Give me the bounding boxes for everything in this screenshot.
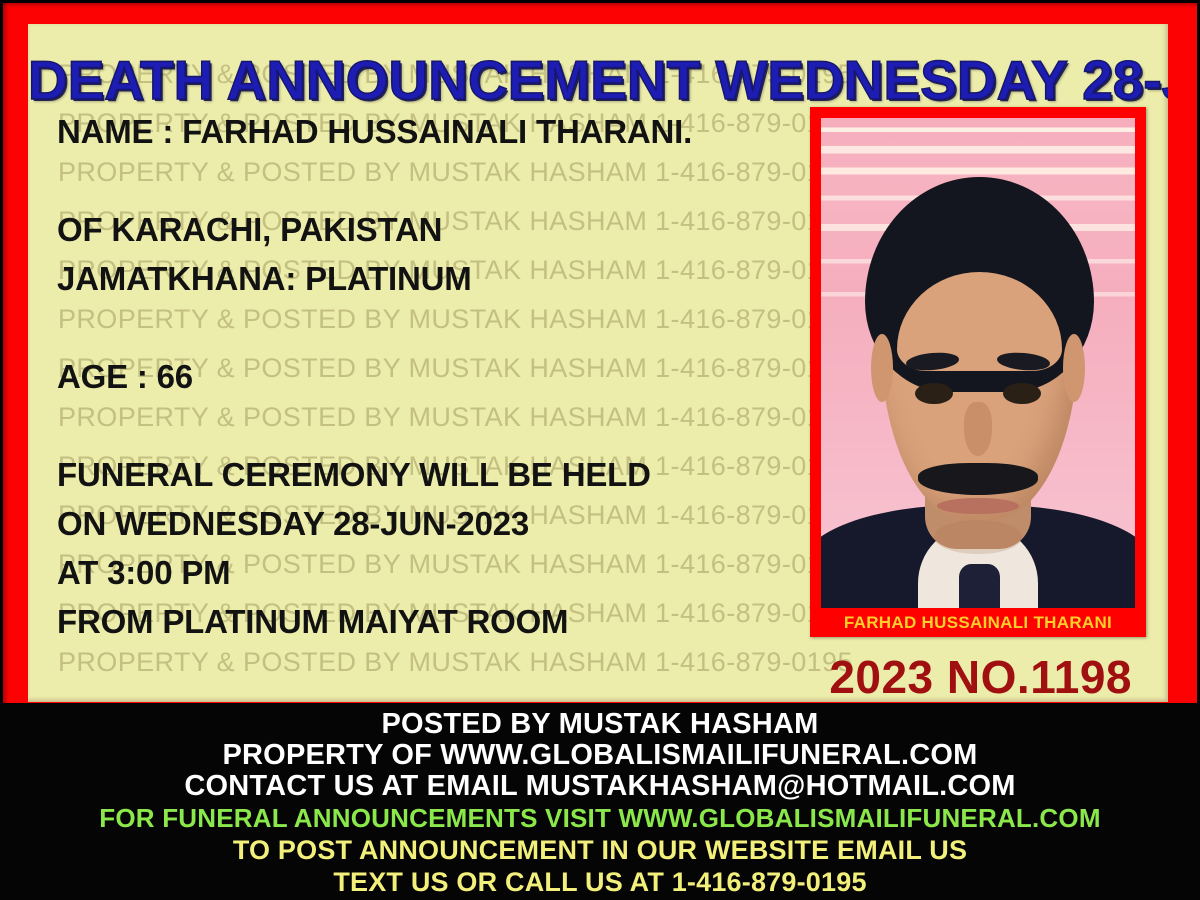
poster-footer: POSTED BY MUSTAK HASHAM PROPERTY OF WWW.… bbox=[0, 703, 1200, 900]
portrait-ear-right bbox=[1063, 334, 1085, 403]
portrait-eye-left bbox=[915, 383, 953, 405]
deceased-photo-frame: FARHAD HUSSAINALI THARANI bbox=[810, 107, 1146, 637]
announcement-panel: PROPERTY & POSTED BY MUSTAK HASHAM 1-416… bbox=[28, 24, 1168, 702]
detail-age: AGE : 66 bbox=[57, 352, 817, 401]
portrait-tie bbox=[959, 564, 1000, 608]
footer-posted-by: POSTED BY MUSTAK HASHAM bbox=[0, 709, 1200, 740]
deceased-portrait-image bbox=[821, 118, 1135, 608]
page-title: DEATH ANNOUNCEMENT WEDNESDAY 28-JUN-2023 bbox=[28, 50, 1168, 110]
photo-caption: FARHAD HUSSAINALI THARANI bbox=[821, 608, 1135, 637]
portrait-moustache bbox=[918, 463, 1037, 494]
detail-ceremony-3: AT 3:00 PM bbox=[57, 548, 817, 597]
detail-ceremony-2: ON WEDNESDAY 28-JUN-2023 bbox=[57, 499, 817, 548]
detail-jamatkhana: JAMATKHANA: PLATINUM bbox=[57, 254, 817, 303]
footer-visit-website: FOR FUNERAL ANNOUNCEMENTS VISIT WWW.GLOB… bbox=[0, 802, 1200, 834]
detail-origin: OF KARACHI, PAKISTAN bbox=[57, 205, 817, 254]
death-announcement-poster: PROPERTY & POSTED BY MUSTAK HASHAM 1-416… bbox=[0, 0, 1200, 900]
portrait-nose bbox=[964, 402, 992, 456]
footer-contact-email: CONTACT US AT EMAIL MUSTAKHASHAM@HOTMAIL… bbox=[0, 771, 1200, 802]
deceased-details: NAME : FARHAD HUSSAINALI THARANI. OF KAR… bbox=[57, 107, 817, 646]
watermark-line: PROPERTY & POSTED BY MUSTAK HASHAM 1-416… bbox=[58, 647, 853, 678]
detail-ceremony-4: FROM PLATINUM MAIYAT ROOM bbox=[57, 597, 817, 646]
portrait-eye-right bbox=[1003, 383, 1041, 405]
footer-post-announcement: TO POST ANNOUNCEMENT IN OUR WEBSITE EMAI… bbox=[0, 834, 1200, 866]
footer-property-of: PROPERTY OF WWW.GLOBALISMAILIFUNERAL.COM bbox=[0, 740, 1200, 771]
detail-ceremony-1: FUNERAL CEREMONY WILL BE HELD bbox=[57, 450, 817, 499]
footer-phone: TEXT US OR CALL US AT 1-416-879-0195 bbox=[0, 866, 1200, 898]
announcement-serial-number: 2023 NO.1198 bbox=[829, 654, 1132, 700]
portrait-chin bbox=[934, 520, 1022, 554]
detail-name: NAME : FARHAD HUSSAINALI THARANI. bbox=[57, 107, 817, 156]
